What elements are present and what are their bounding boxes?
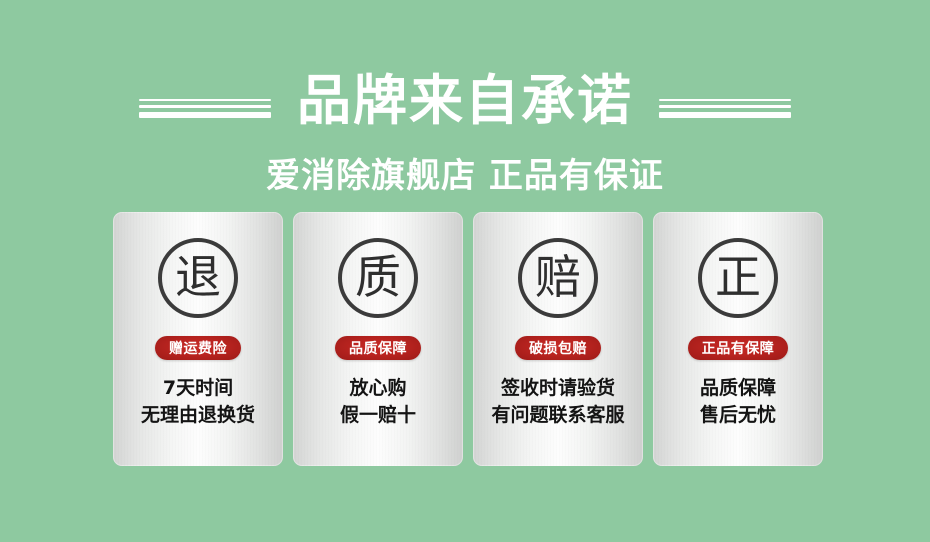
- guarantee-card-compensation: 赔 破损包赔 签收时请验货 有问题联系客服: [473, 212, 643, 466]
- guarantee-card-list: 退 赠运费险 7天时间 无理由退换货 质 品质保障 放心购 假一赔十: [113, 212, 825, 466]
- rule-line-mid: [139, 105, 271, 108]
- card-description: 7天时间 无理由退换货: [141, 375, 255, 429]
- return-glyph-icon: 退: [158, 238, 238, 318]
- rule-line-thin: [659, 99, 791, 101]
- card-description-line2: 有问题联系客服: [491, 402, 624, 429]
- card-description-line2: 假一赔十: [340, 402, 416, 429]
- card-description-line2: 售后无忧: [700, 402, 776, 429]
- card-description-line1: 7天时间: [163, 377, 233, 399]
- guarantee-card-quality: 质 品质保障 放心购 假一赔十: [293, 212, 463, 466]
- rule-line-thin: [139, 99, 271, 101]
- card-description: 签收时请验货 有问题联系客服: [491, 375, 624, 429]
- page-subtitle: 爱消除旗舰店 正品有保证: [0, 148, 930, 197]
- card-description: 放心购 假一赔十: [340, 375, 416, 429]
- title-row: 品牌来自承诺: [0, 66, 930, 136]
- title-rule-left: [139, 99, 271, 118]
- guarantee-card-authentic: 正 正品有保障 品质保障 售后无忧: [653, 212, 823, 466]
- card-description: 品质保障 售后无忧: [700, 375, 776, 429]
- card-description-line1: 品质保障: [700, 377, 776, 399]
- glyph-character: 正: [715, 254, 761, 300]
- rule-line-mid: [659, 105, 791, 108]
- card-description-line1: 签收时请验货: [501, 377, 615, 399]
- glyph-character: 质: [355, 254, 401, 300]
- page-title: 品牌来自承诺: [297, 74, 633, 128]
- card-description-line2: 无理由退换货: [141, 402, 255, 429]
- quality-glyph-icon: 质: [338, 238, 418, 318]
- authentic-glyph-icon: 正: [698, 238, 778, 318]
- rule-line-thick: [659, 112, 791, 118]
- glyph-character: 赔: [535, 254, 581, 300]
- guarantee-card-return: 退 赠运费险 7天时间 无理由退换货: [113, 212, 283, 466]
- promo-banner: 品牌来自承诺 爱消除旗舰店 正品有保证 退 赠运费险 7天时间 无理由退换货: [0, 0, 930, 542]
- title-rule-right: [659, 99, 791, 118]
- rule-line-thick: [139, 112, 271, 118]
- status-badge: 正品有保障: [688, 336, 789, 360]
- status-badge: 品质保障: [335, 336, 421, 360]
- card-description-line1: 放心购: [349, 377, 406, 399]
- status-badge: 赠运费险: [155, 336, 241, 360]
- glyph-character: 退: [175, 254, 221, 300]
- compensation-glyph-icon: 赔: [518, 238, 598, 318]
- status-badge: 破损包赔: [515, 336, 601, 360]
